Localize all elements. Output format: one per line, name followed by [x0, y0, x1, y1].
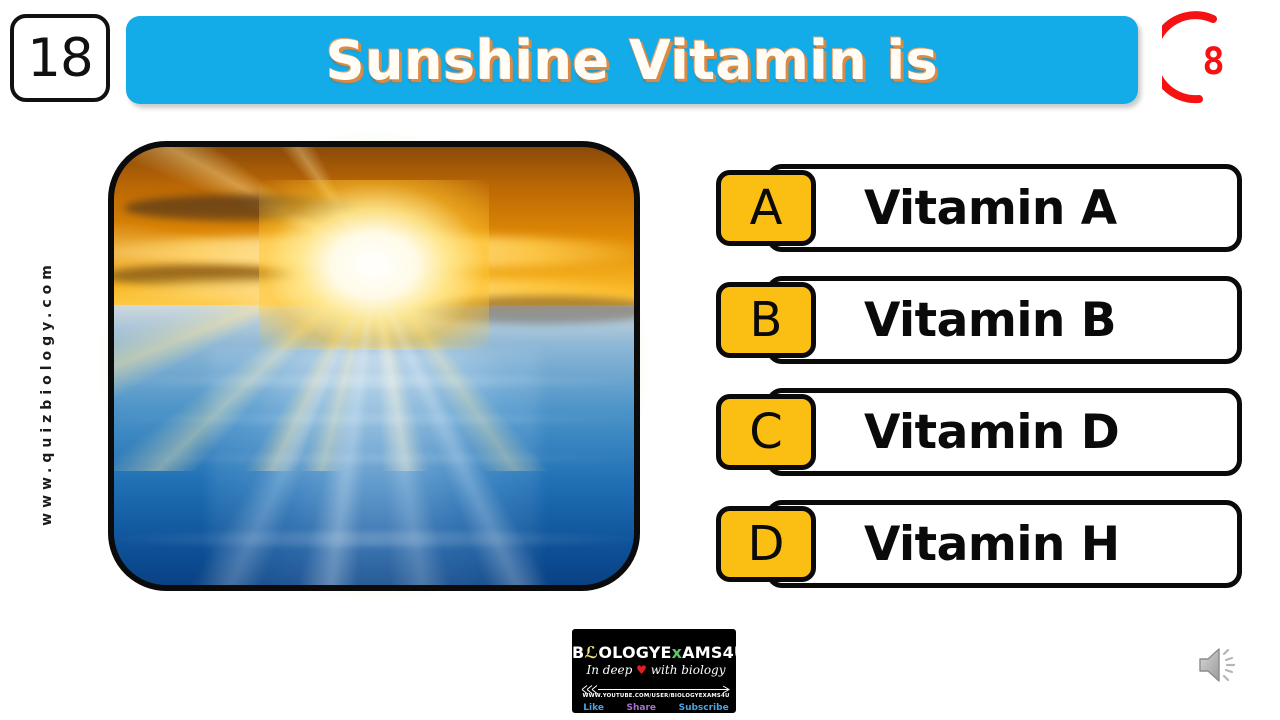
logo-brand-part1: OLOGYE	[598, 643, 671, 662]
option-letter-badge: D	[716, 506, 816, 582]
option-letter-badge: C	[716, 394, 816, 470]
countdown-timer: 8	[1162, 10, 1264, 112]
channel-logo-card[interactable]: BℒOLOGYExAMS4U In deep ♥ with biology WW…	[570, 627, 738, 715]
option-row-c[interactable]: C Vitamin D	[716, 388, 1242, 476]
test-tube-icon: ℒ	[584, 643, 598, 662]
site-url-watermark: www.quizbiology.com	[39, 228, 55, 558]
subscribe-link[interactable]: Subscribe	[679, 703, 729, 713]
option-letter-badge: B	[716, 282, 816, 358]
option-row-b[interactable]: B Vitamin B	[716, 276, 1242, 364]
logo-brand-prefix: B	[572, 643, 584, 662]
heart-icon: ♥	[636, 663, 647, 677]
countdown-seconds: 8	[1162, 10, 1264, 112]
channel-logo-tagline: In deep ♥ with biology	[572, 663, 738, 677]
speaker-volume-icon[interactable]	[1186, 634, 1248, 696]
option-letter-badge: A	[716, 170, 816, 246]
tagline-before: In deep	[586, 663, 632, 677]
channel-logo-url: WWW.YOUTUBE.COM/USER/BIOLOGYEXAMS4U	[572, 693, 738, 699]
share-link[interactable]: Share	[627, 703, 657, 713]
question-number-text: 18	[27, 32, 92, 85]
option-label: Vitamin A	[864, 164, 1117, 252]
option-letter: D	[748, 520, 785, 568]
question-image-frame	[108, 141, 640, 591]
channel-logo-brand: BℒOLOGYExAMS4U	[572, 643, 738, 662]
quiz-slide: 18 Sunshine Vitamin is 8 www.quizbiology…	[0, 0, 1280, 720]
option-label: Vitamin B	[864, 276, 1116, 364]
option-letter: C	[749, 408, 783, 456]
option-row-a[interactable]: A Vitamin A	[716, 164, 1242, 252]
option-letter: B	[750, 296, 783, 344]
channel-logo-links[interactable]: Like Share Subscribe	[572, 703, 738, 713]
dna-helix-icon: x	[672, 643, 683, 662]
sunrise-image	[114, 147, 634, 585]
option-letter: A	[750, 184, 783, 232]
question-title-text: Sunshine Vitamin is	[326, 29, 939, 92]
option-label: Vitamin D	[864, 388, 1119, 476]
like-link[interactable]: Like	[583, 703, 604, 713]
option-row-d[interactable]: D Vitamin H	[716, 500, 1242, 588]
logo-brand-part2: AMS4U	[682, 643, 738, 662]
question-number-badge: 18	[10, 14, 110, 102]
tagline-after: with biology	[651, 663, 726, 677]
question-title-banner: Sunshine Vitamin is	[126, 16, 1138, 104]
option-label: Vitamin H	[864, 500, 1120, 588]
